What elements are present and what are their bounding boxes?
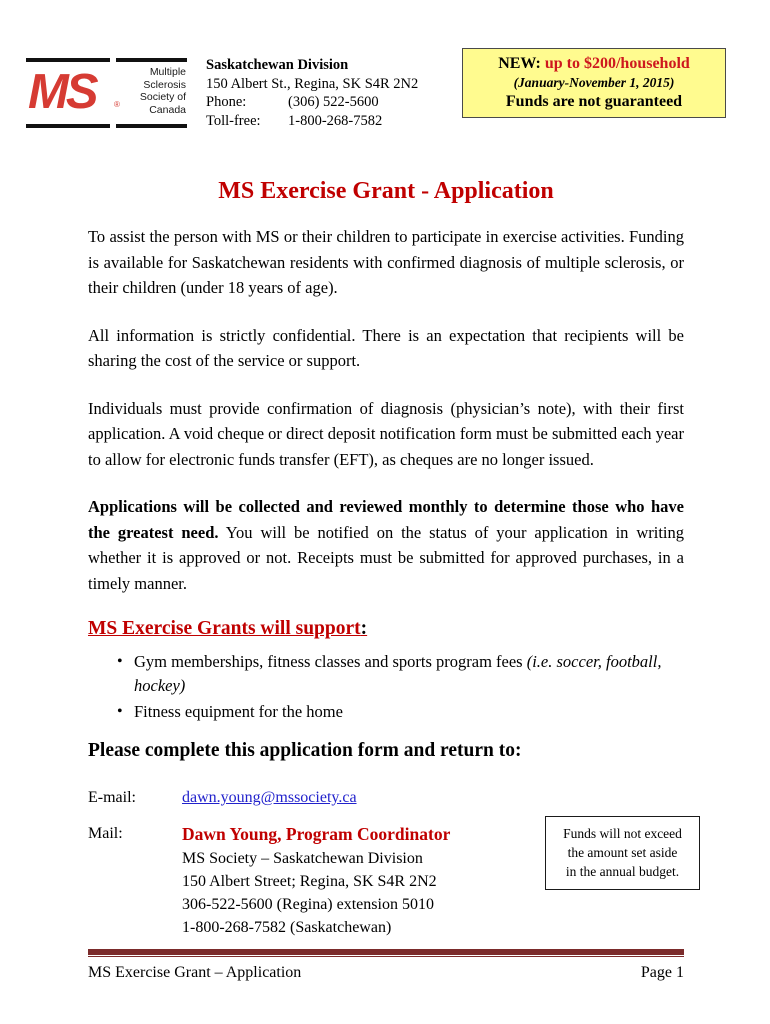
organization-contact-block: Saskatchewan Division 150 Albert St., Re… xyxy=(206,56,418,130)
logo-word-line-4: Canada xyxy=(122,104,186,117)
division-address: 150 Albert St., Regina, SK S4R 2N2 xyxy=(206,75,418,94)
email-row: E-mail: dawn.young@mssociety.ca xyxy=(88,786,528,809)
mail-address-lines: Dawn Young, Program Coordinator MS Socie… xyxy=(182,822,528,939)
support-section-heading: MS Exercise Grants will support: xyxy=(88,618,684,640)
mail-line-1: MS Society – Saskatchewan Division xyxy=(182,847,528,870)
logo-word-line-3: Society of xyxy=(122,91,186,104)
mail-line-2: 150 Albert Street; Regina, SK S4R 2N2 xyxy=(182,870,528,893)
logo-word-line-1: Multiple xyxy=(122,66,186,79)
paragraph-purpose: To assist the person with MS or their ch… xyxy=(88,224,684,301)
funds-note-line-3: in the annual budget. xyxy=(552,862,693,881)
funds-note-line-2: the amount set aside xyxy=(552,843,693,862)
callout-new-amount: up to $200/household xyxy=(545,55,690,72)
page-footer: MS Exercise Grant – Application Page 1 xyxy=(88,962,684,984)
list-item: Fitness equipment for the home xyxy=(134,700,684,724)
new-amount-callout-box: NEW: up to $200/household (January-Novem… xyxy=(462,48,726,118)
page-title: MS Exercise Grant - Application xyxy=(88,178,684,205)
tollfree-value: 1-800-268-7582 xyxy=(288,113,382,129)
list-item: Gym memberships, fitness classes and spo… xyxy=(134,650,684,698)
mail-label: Mail: xyxy=(88,822,178,845)
email-contact-row: E-mail: dawn.young@mssociety.ca xyxy=(88,786,528,809)
callout-line-new: NEW: up to $200/household xyxy=(469,54,719,73)
footer-rule-thick xyxy=(88,949,684,955)
callout-disclaimer: Funds are not guaranteed xyxy=(469,92,719,111)
coordinator-name: Dawn Young, Program Coordinator xyxy=(182,822,528,847)
bullet-text-2: Fitness equipment for the home xyxy=(134,702,343,721)
document-page: MS ® Multiple Sclerosis Society of Canad… xyxy=(0,0,770,1024)
paragraph-requirements: Individuals must provide confirmation of… xyxy=(88,396,684,473)
logo-wordmark: Multiple Sclerosis Society of Canada xyxy=(122,66,186,116)
callout-dates: (January-November 1, 2015) xyxy=(469,73,719,92)
email-label: E-mail: xyxy=(88,786,178,809)
phone-value: (306) 522-5600 xyxy=(288,94,379,110)
support-heading-text: MS Exercise Grants will support xyxy=(88,618,361,639)
bullet-text-1: Gym memberships, fitness classes and spo… xyxy=(134,652,527,671)
tollfree-label: Toll-free: xyxy=(206,112,288,131)
footer-page-number: Page 1 xyxy=(641,962,684,984)
support-heading-colon: : xyxy=(361,618,368,639)
ms-society-logo: MS ® Multiple Sclerosis Society of Canad… xyxy=(24,58,189,128)
supported-items-list: Gym memberships, fitness classes and spo… xyxy=(88,650,684,724)
return-instructions-heading: Please complete this application form an… xyxy=(88,740,521,762)
document-header: MS ® Multiple Sclerosis Society of Canad… xyxy=(24,48,746,138)
logo-bar-top xyxy=(26,58,187,62)
tollfree-row: Toll-free:1-800-268-7582 xyxy=(206,112,418,131)
footer-rule-thin xyxy=(88,956,684,957)
phone-label: Phone: xyxy=(206,93,288,112)
mail-line-4: 1-800-268-7582 (Saskatchewan) xyxy=(182,916,528,939)
funds-limit-note-box: Funds will not exceed the amount set asi… xyxy=(545,816,700,890)
funds-note-line-1: Funds will not exceed xyxy=(552,824,693,843)
phone-row: Phone:(306) 522-5600 xyxy=(206,93,418,112)
document-body: To assist the person with MS or their ch… xyxy=(88,224,684,726)
registered-trademark-icon: ® xyxy=(114,100,120,109)
logo-bar-bottom xyxy=(26,124,187,128)
email-link[interactable]: dawn.young@mssociety.ca xyxy=(182,789,357,806)
division-name: Saskatchewan Division xyxy=(206,56,418,75)
paragraph-confidentiality: All information is strictly confidential… xyxy=(88,323,684,374)
logo-word-line-2: Sclerosis xyxy=(122,79,186,92)
logo-ms-mark: MS xyxy=(28,66,120,118)
email-value: dawn.young@mssociety.ca xyxy=(182,786,528,809)
mail-contact-block: Mail: Dawn Young, Program Coordinator MS… xyxy=(88,822,528,939)
paragraph-review-process: Applications will be collected and revie… xyxy=(88,494,684,596)
mail-line-3: 306-522-5600 (Regina) extension 5010 xyxy=(182,893,528,916)
footer-document-name: MS Exercise Grant – Application xyxy=(88,962,301,984)
callout-new-label: NEW: xyxy=(498,55,541,72)
